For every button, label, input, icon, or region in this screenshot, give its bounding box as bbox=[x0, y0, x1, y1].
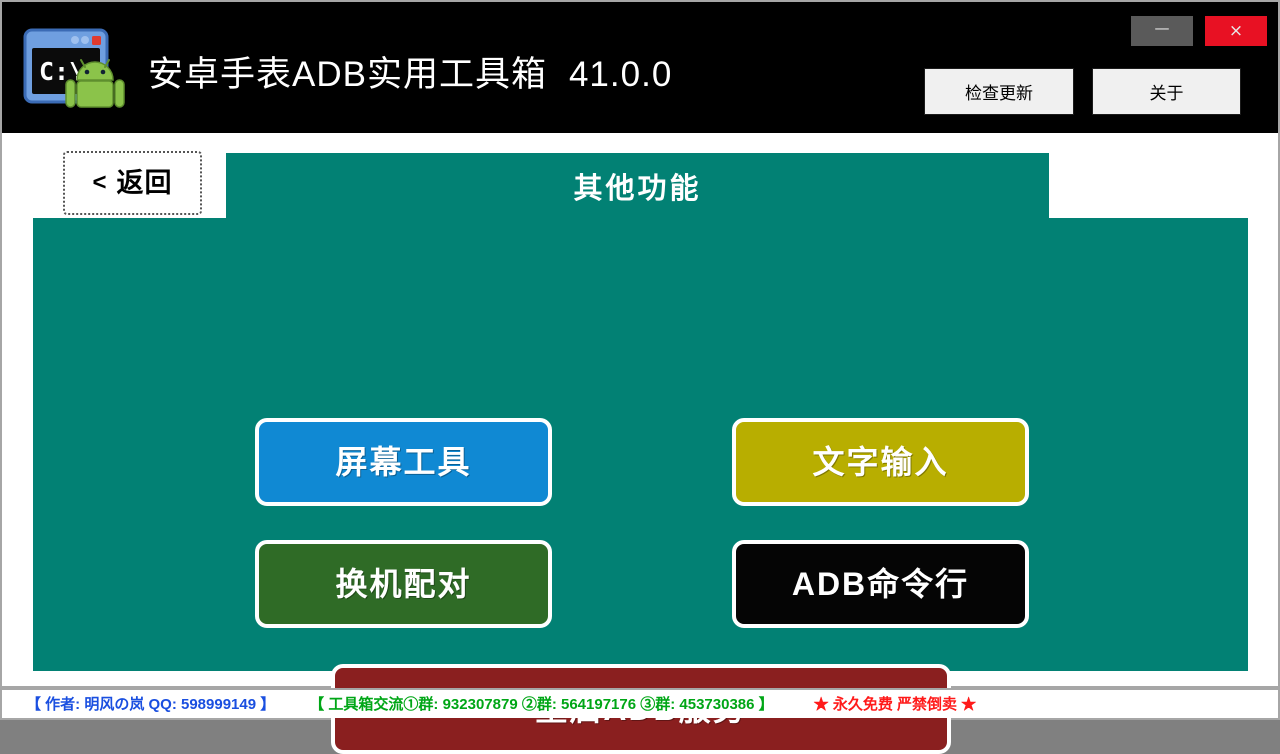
close-button[interactable]: × bbox=[1205, 16, 1267, 46]
text-input-label: 文字输入 bbox=[812, 446, 948, 478]
screen-tools-label: 屏幕工具 bbox=[335, 446, 471, 478]
app-title-text: 安卓手表ADB实用工具箱 bbox=[148, 55, 547, 94]
back-button[interactable]: < 返回 bbox=[63, 151, 202, 215]
page-title: 安卓手表ADB实用工具箱41.0.0 bbox=[148, 46, 672, 97]
title-bar: C:\ 安卓手表ADB实用工具箱41.0.0 — bbox=[2, 2, 1278, 133]
close-icon: × bbox=[1229, 23, 1243, 40]
device-pair-label: 换机配对 bbox=[335, 568, 471, 600]
device-pair-button[interactable]: 换机配对 bbox=[255, 540, 552, 628]
adb-cmdline-button[interactable]: ADB命令行 bbox=[732, 540, 1029, 628]
cmd-android-icon: C:\ bbox=[19, 18, 125, 124]
status-author: 【 作者: 明风の岚 QQ: 598999149 】 bbox=[26, 697, 275, 712]
chevron-left-icon: < bbox=[92, 171, 106, 195]
adb-cmdline-label: ADB命令行 bbox=[792, 568, 969, 600]
check-update-button[interactable]: 检查更新 bbox=[924, 68, 1074, 115]
status-qq-groups: 【 工具箱交流①群: 932307879 ②群: 564197176 ③群: 4… bbox=[309, 697, 773, 712]
application-window: C:\ 安卓手表ADB实用工具箱41.0.0 — bbox=[0, 0, 1280, 720]
svg-text:C:\: C:\ bbox=[39, 57, 84, 86]
app-version: 41.0.0 bbox=[569, 55, 672, 94]
check-update-label: 检查更新 bbox=[965, 79, 1033, 104]
function-panel: 屏幕工具 文字输入 换机配对 ADB命令行 重启ADB服务 bbox=[33, 218, 1248, 671]
status-notice: ★ 永久免费 严禁倒卖 ★ bbox=[814, 697, 977, 712]
minimize-button[interactable]: — bbox=[1131, 16, 1193, 46]
tab-header: 其他功能 bbox=[226, 153, 1049, 218]
tab-title-label: 其他功能 bbox=[573, 165, 701, 207]
about-button[interactable]: 关于 bbox=[1092, 68, 1241, 115]
screen-tools-button[interactable]: 屏幕工具 bbox=[255, 418, 552, 506]
about-label: 关于 bbox=[1150, 79, 1184, 104]
status-bar: 【 作者: 明风の岚 QQ: 598999149 】 【 工具箱交流①群: 93… bbox=[2, 688, 1278, 718]
back-button-label: 返回 bbox=[117, 170, 173, 197]
text-input-button[interactable]: 文字输入 bbox=[732, 418, 1029, 506]
content-area: < 返回 其他功能 屏幕工具 文字输入 换机配对 ADB命令行 重启ADB服务 bbox=[2, 133, 1278, 686]
minimize-icon: — bbox=[1155, 21, 1170, 36]
